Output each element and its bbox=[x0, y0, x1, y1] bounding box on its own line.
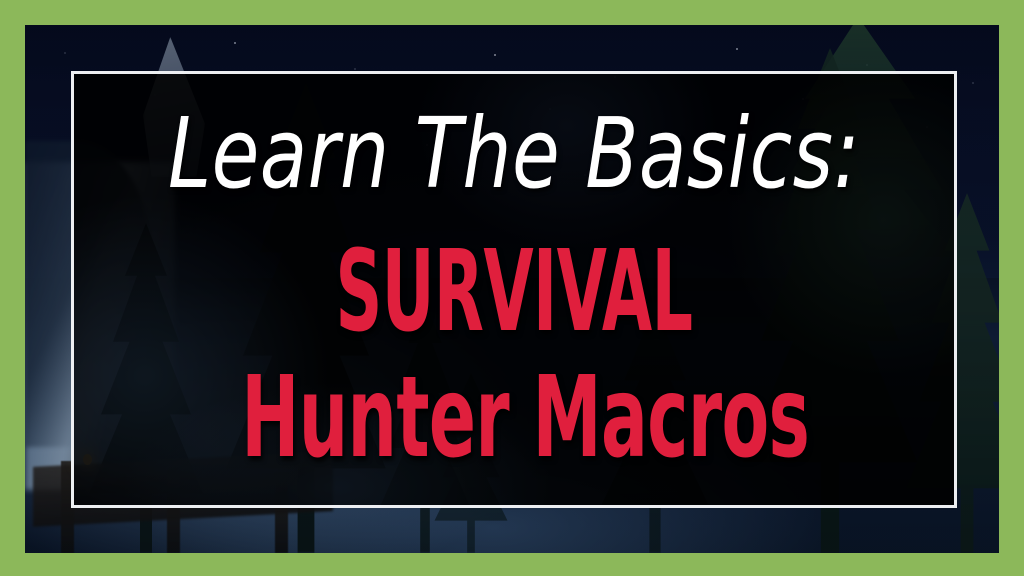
video-thumbnail: Learn The Basics: SURVIVAL Hunter Macros bbox=[0, 0, 1024, 576]
title-stack: Learn The Basics: SURVIVAL Hunter Macros bbox=[74, 105, 954, 474]
headline-line-1: Learn The Basics: bbox=[162, 105, 866, 202]
headline-line-2-spec: SURVIVAL bbox=[259, 236, 769, 348]
headline-line-3-topic: Hunter Macros bbox=[241, 362, 787, 474]
title-card: Learn The Basics: SURVIVAL Hunter Macros bbox=[71, 71, 957, 508]
